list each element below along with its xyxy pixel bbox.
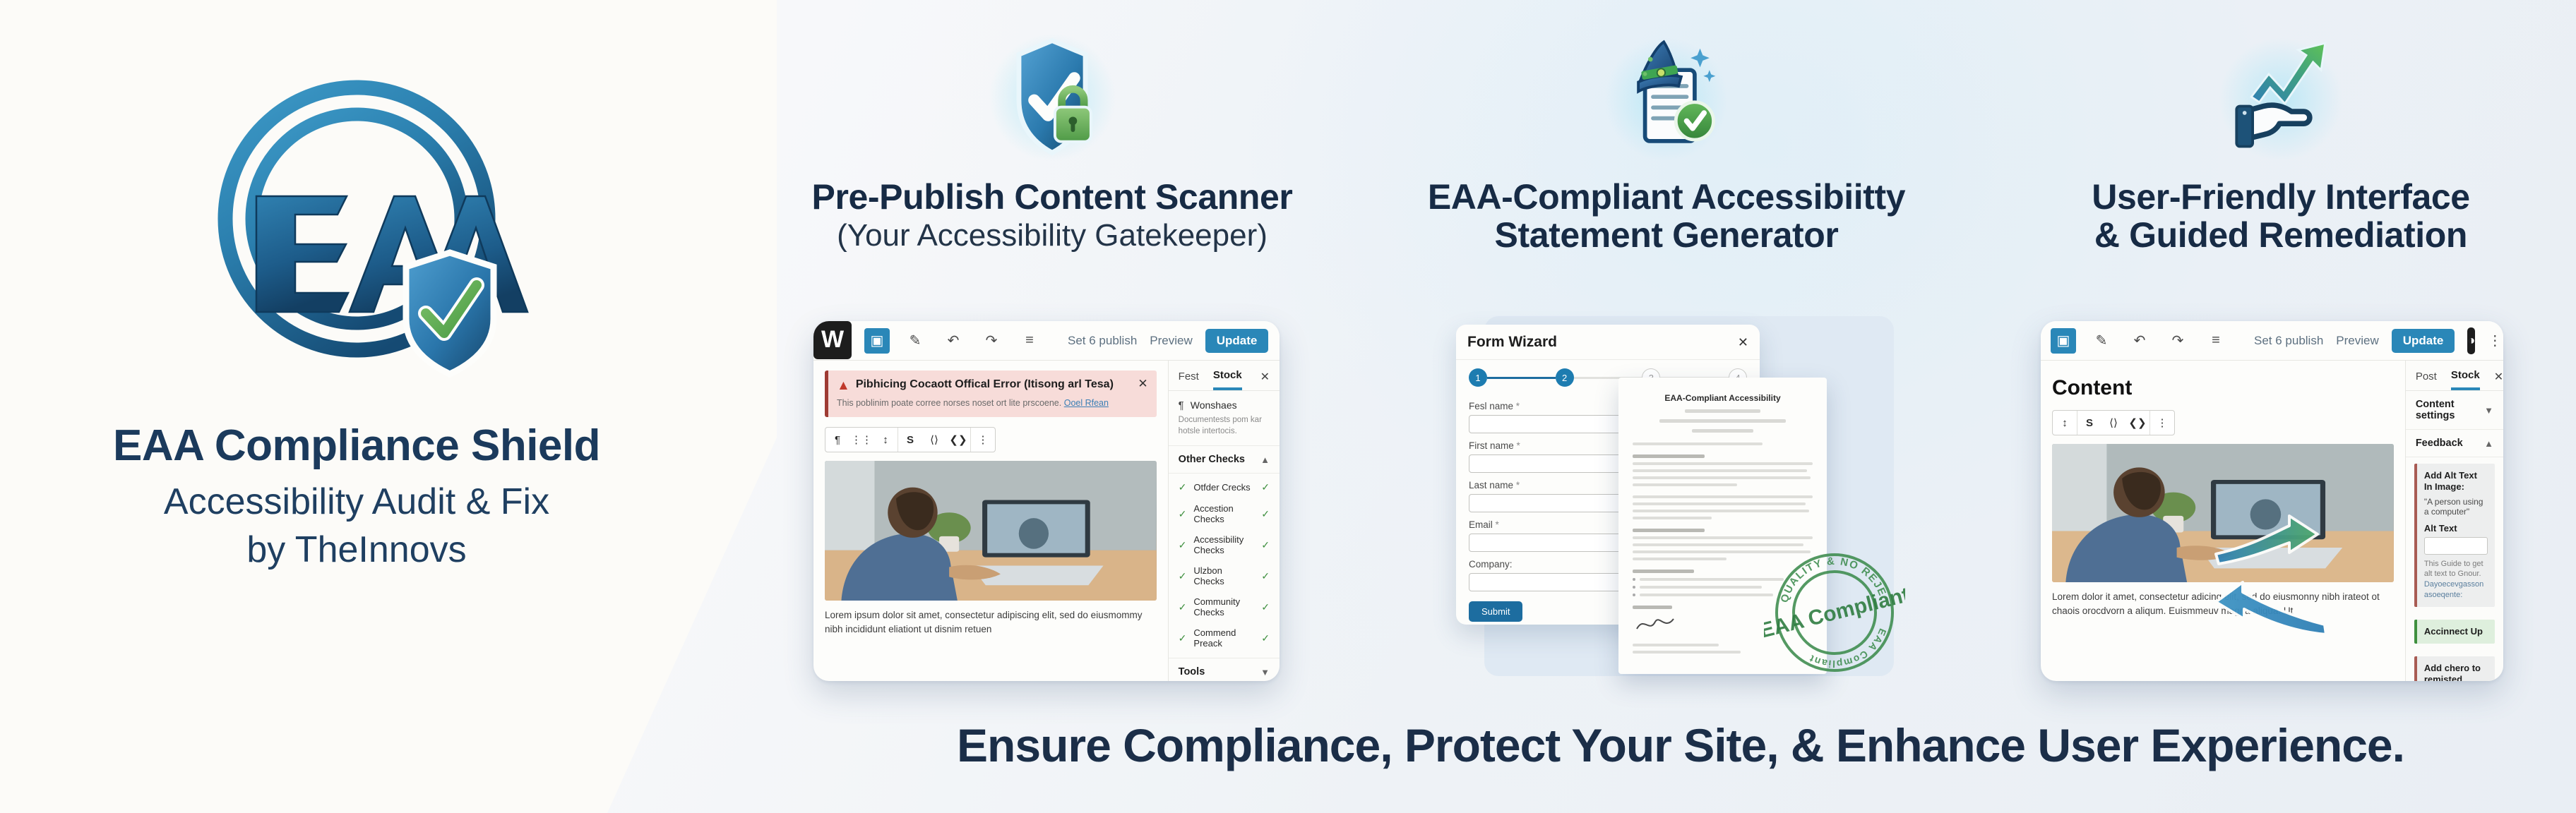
warning-triangle-icon: ▲ bbox=[837, 379, 850, 392]
paragraph-icon[interactable]: ¶ bbox=[825, 428, 849, 452]
editor-sidebar: Fest Stock ✕ ¶ Wonshaes Documentests pom… bbox=[1168, 361, 1280, 681]
check-label: Accessibility Checks bbox=[1193, 534, 1254, 555]
doc-line bbox=[1633, 442, 1763, 445]
close-icon[interactable]: ✕ bbox=[1138, 377, 1147, 391]
sidebar-tabs: Post Stock ✕ bbox=[2406, 361, 2503, 391]
sidebar-block-note: ¶ Wonshaes Documentests pom kar hotsle i… bbox=[1169, 391, 1280, 446]
notice-body: This poblinim poate corree norses noset … bbox=[837, 397, 1148, 409]
doc-subheading bbox=[1633, 454, 1705, 458]
check-status-icon: ✓ bbox=[1261, 601, 1270, 613]
feature-2-title: EAA-Compliant Accessibiitty Statement Ge… bbox=[1428, 178, 1905, 254]
feature-2-title-line1: EAA-Compliant Accessibiitty bbox=[1428, 178, 1905, 216]
list-view-icon[interactable]: ≡ bbox=[1017, 328, 1042, 354]
feature-1-title: Pre-Publish Content Scanner bbox=[812, 178, 1293, 216]
field-required-mark: * bbox=[1496, 519, 1499, 530]
sidebar-note-head: ¶ Wonshaes bbox=[1179, 399, 1270, 411]
feedback-card-title: Add Alt Text In Image: bbox=[2424, 470, 2488, 493]
bold-icon[interactable]: S bbox=[2077, 411, 2101, 435]
field-label-text: Last name bbox=[1469, 480, 1513, 490]
tab-post[interactable]: Fest bbox=[1179, 371, 1199, 389]
wordpress-logo[interactable]: W bbox=[813, 321, 852, 359]
brand-byline: by TheInnovs bbox=[246, 529, 466, 571]
chevron-up-icon: ▲ bbox=[1260, 454, 1270, 465]
block-toolbar: ¶ ⋮⋮ ↕ S ⟨⟩ ❮❯ ⋮ bbox=[825, 427, 996, 452]
doc-line bbox=[1633, 510, 1809, 512]
kebab-icon[interactable]: ⋮ bbox=[2150, 411, 2174, 435]
settings-toggle-icon[interactable]: ◑ bbox=[2467, 327, 2475, 354]
doc-line bbox=[1633, 495, 1813, 498]
editor-canvas: ▲ Pibhicing Cocaott Offical Error (Itiso… bbox=[813, 361, 1168, 681]
feature-column-statement-generator: EAA-Compliant Accessibiitty Statement Ge… bbox=[1363, 18, 1970, 254]
check-label: Community Checks bbox=[1193, 596, 1254, 618]
mockup-pre-publish-scanner: W ▣ ✎ ↶ ↷ ≡ Set 6 publish Preview Update… bbox=[813, 321, 1280, 681]
check-status-icon: ✓ bbox=[1261, 481, 1270, 493]
content-photo bbox=[2052, 444, 2394, 582]
list-item[interactable]: ✓ Ulzbon Checks ✓ bbox=[1169, 560, 1280, 591]
feature-3-title-line2: & Guided Remediation bbox=[2092, 216, 2469, 254]
sidebar-note-title: Wonshaes bbox=[1191, 399, 1237, 411]
list-item[interactable]: ✓ Commend Preack ✓ bbox=[1169, 622, 1280, 654]
doc-line bbox=[1633, 469, 1807, 472]
section-tools-label: Tools bbox=[1179, 666, 1205, 677]
doc-signature-label bbox=[1633, 606, 1672, 609]
feedback-card-title: Add chero to remisted remediation bbox=[2424, 663, 2488, 681]
doc-line bbox=[1685, 409, 1760, 413]
move-updown-icon[interactable]: ↕ bbox=[873, 428, 898, 452]
preview-link[interactable]: Preview bbox=[2336, 334, 2378, 348]
sidebar-tabs: Fest Stock ✕ bbox=[1169, 361, 1280, 391]
hand-growth-arrow-icon bbox=[2214, 18, 2348, 167]
list-view-icon[interactable]: ≡ bbox=[2203, 328, 2229, 354]
eaa-compliant-stamp: QUALITY & NO REJECT EAA Compliant EAA Co… bbox=[1764, 542, 1905, 683]
hint-text: This Guide to get alt text to Gnour. bbox=[2424, 560, 2483, 579]
drag-handle-icon[interactable]: ⋮⋮ bbox=[849, 428, 873, 452]
list-item[interactable]: ✓ Accessibility Checks ✓ bbox=[1169, 529, 1280, 560]
wp-editor-toolbar: W ▣ ✎ ↶ ↷ ≡ Set 6 publish Preview Update… bbox=[813, 321, 1280, 361]
list-item[interactable]: ✓ Otfder Crecks ✓ bbox=[1169, 476, 1280, 498]
field-label-text: Company: bbox=[1469, 559, 1513, 570]
feature-3-title-line1: User-Friendly Interface bbox=[2092, 178, 2469, 216]
notice-head: ▲ Pibhicing Cocaott Offical Error (Itiso… bbox=[837, 378, 1148, 392]
check-status-icon: ✓ bbox=[1261, 632, 1270, 644]
close-icon[interactable]: ✕ bbox=[1738, 335, 1748, 350]
check-icon: ✓ bbox=[1179, 508, 1187, 520]
hint-link[interactable]: Dayoecevgasson asoeqente: bbox=[2424, 580, 2483, 599]
feature-1-subtitle: (Your Accessibility Gatekeeper) bbox=[837, 219, 1268, 253]
link-icon[interactable]: ⟨⟩ bbox=[922, 428, 946, 452]
chevron-up-icon: ▲ bbox=[2484, 438, 2493, 449]
more-rich-text-icon[interactable]: ❮❯ bbox=[946, 428, 970, 452]
brand-block: EAA Compliance Shield Accessibility Audi… bbox=[0, 42, 713, 571]
notice-link[interactable]: Ooel Rfean bbox=[1064, 398, 1109, 408]
step-2[interactable]: 2 bbox=[1556, 368, 1574, 387]
doc-subheading bbox=[1633, 570, 1694, 573]
block-toolbar-group-2: S ⟨⟩ ❮❯ bbox=[2077, 411, 2149, 435]
preview-link[interactable]: Preview bbox=[1150, 334, 1192, 348]
check-status-icon: ✓ bbox=[1261, 508, 1270, 520]
pencil-icon[interactable]: ✎ bbox=[902, 328, 928, 354]
section-tools[interactable]: Tools ▼ bbox=[1169, 658, 1280, 681]
sidebar-note-body: Documentests pom kar hotsle intertocis. bbox=[1179, 415, 1270, 437]
signature-icon bbox=[1633, 613, 1696, 634]
field-label-text: First name bbox=[1469, 440, 1514, 451]
feedback-card-hint: This Guide to get alt text to Gnour. Day… bbox=[2424, 559, 2488, 601]
doc-line bbox=[1633, 558, 1727, 560]
lorem-text: Lorem dolor it amet, consectetur adicing… bbox=[2052, 590, 2394, 618]
doc-line bbox=[1633, 476, 1811, 479]
block-toolbar: ↕ S ⟨⟩ ❮❯ ⋮ bbox=[2052, 410, 2175, 435]
wp-editor-toolbar: ▣ ✎ ↶ ↷ ≡ Set 6 publish Preview Update ◑… bbox=[2041, 321, 2503, 361]
lorem-text: Lorem ipsum dolor sit amet, consectetur … bbox=[825, 608, 1157, 636]
step-connector-1 bbox=[1487, 377, 1556, 379]
bold-icon[interactable]: S bbox=[898, 428, 922, 452]
chevron-down-icon: ▼ bbox=[1260, 667, 1270, 677]
kebab-icon[interactable]: ⋮ bbox=[2488, 332, 2500, 349]
editor-body: Content ↕ S ⟨⟩ ❮❯ ⋮ bbox=[2041, 361, 2503, 681]
field-required-mark: * bbox=[1516, 401, 1520, 411]
check-label: Otfder Crecks bbox=[1193, 482, 1254, 493]
check-label: Ulzbon Checks bbox=[1193, 565, 1254, 586]
notice-title: Pibhicing Cocaott Offical Error (Itisong… bbox=[856, 378, 1114, 392]
chevron-down-icon: ▼ bbox=[2484, 405, 2493, 416]
undo-icon[interactable]: ↶ bbox=[2127, 328, 2152, 354]
pencil-icon[interactable]: ✎ bbox=[2089, 328, 2114, 354]
check-icon: ✓ bbox=[1179, 570, 1187, 582]
error-notice: ▲ Pibhicing Cocaott Offical Error (Itiso… bbox=[825, 371, 1157, 417]
check-icon: ✓ bbox=[1179, 632, 1187, 644]
feedback-card-title: Accinnect Up bbox=[2424, 626, 2488, 637]
doc-line bbox=[1633, 536, 1813, 539]
field-label-text: Fesl name bbox=[1469, 401, 1513, 411]
save-draft-link[interactable]: Set 6 publish bbox=[1068, 334, 1137, 348]
content-heading: Content bbox=[2052, 376, 2394, 400]
field-required-mark: * bbox=[1517, 440, 1520, 451]
doc-line bbox=[1633, 517, 1712, 519]
doc-line bbox=[1633, 462, 1813, 465]
check-label: Accestion Checks bbox=[1193, 503, 1254, 524]
save-draft-link[interactable]: Set 6 publish bbox=[2254, 334, 2323, 348]
block-inserter-icon[interactable]: ▣ bbox=[864, 328, 890, 354]
move-updown-icon[interactable]: ↕ bbox=[2053, 411, 2077, 435]
link-icon[interactable]: ⟨⟩ bbox=[2101, 411, 2125, 435]
redo-icon[interactable]: ↷ bbox=[979, 328, 1004, 354]
block-toolbar-group-2: S ⟨⟩ ❮❯ bbox=[898, 428, 970, 452]
feature-2-title-line2: Statement Generator bbox=[1428, 216, 1905, 254]
feature-column-guided-remediation: User-Friendly Interface & Guided Remedia… bbox=[1977, 18, 2576, 254]
list-item[interactable]: ✓ Accestion Checks ✓ bbox=[1169, 498, 1280, 529]
notice-body-text: This poblinim poate corree norses noset … bbox=[837, 398, 1061, 408]
update-button[interactable]: Update bbox=[2392, 329, 2455, 353]
update-button[interactable]: Update bbox=[1205, 329, 1269, 353]
block-inserter-icon[interactable]: ▣ bbox=[2051, 328, 2076, 354]
section-other-checks[interactable]: Other Checks ▲ bbox=[1169, 446, 1280, 474]
more-rich-text-icon[interactable]: ❮❯ bbox=[2125, 411, 2149, 435]
form-wizard-header: Form Wizard ✕ bbox=[1456, 325, 1760, 360]
alt-text-input[interactable] bbox=[2424, 537, 2488, 555]
field-required-mark: * bbox=[1516, 480, 1520, 490]
tagline: Ensure Compliance, Protect Your Site, & … bbox=[876, 718, 2486, 772]
feedback-card-success: Accinnect Up bbox=[2414, 620, 2495, 644]
brand-title: EAA Compliance Shield bbox=[113, 421, 600, 471]
close-icon[interactable]: ✕ bbox=[1260, 370, 1270, 390]
tab-post[interactable]: Post bbox=[2416, 371, 2437, 389]
editor-body: ▲ Pibhicing Cocaott Offical Error (Itiso… bbox=[813, 361, 1280, 681]
checks-list: ✓ Otfder Crecks ✓ ✓ Accestion Checks ✓ ✓… bbox=[1169, 474, 1280, 658]
doc-line bbox=[1633, 483, 1737, 486]
doc-line bbox=[1633, 644, 1719, 646]
kebab-icon[interactable]: ⋮ bbox=[971, 428, 995, 452]
section-content-settings[interactable]: Content settings ▼ bbox=[2406, 391, 2503, 430]
doc-line bbox=[1659, 419, 1786, 423]
block-toolbar-group-3: ⋮ bbox=[2149, 411, 2174, 435]
feature-column-scanner: Pre-Publish Content Scanner (Your Access… bbox=[720, 18, 1384, 253]
check-status-icon: ✓ bbox=[1261, 539, 1270, 551]
redo-icon[interactable]: ↷ bbox=[2165, 328, 2190, 354]
document-heading: EAA-Compliant Accessibility bbox=[1633, 393, 1813, 403]
shield-lock-check-icon bbox=[983, 18, 1121, 167]
submit-button[interactable]: Submit bbox=[1469, 601, 1522, 622]
tab-block[interactable]: Stock bbox=[2451, 369, 2480, 390]
editor-sidebar: Post Stock ✕ Content settings ▼ Feedback… bbox=[2405, 361, 2503, 681]
section-feedback-label: Feedback bbox=[2416, 438, 2463, 449]
mockup-guided-remediation: ▣ ✎ ↶ ↷ ≡ Set 6 publish Preview Update ◑… bbox=[2041, 321, 2503, 681]
block-toolbar-group-3: ⋮ bbox=[970, 428, 995, 452]
tab-block[interactable]: Stock bbox=[1213, 369, 1242, 390]
doc-line bbox=[1633, 502, 1806, 505]
paragraph-icon: ¶ bbox=[1179, 399, 1184, 411]
wizard-hat-document-check-icon bbox=[1599, 18, 1734, 167]
form-wizard-title: Form Wizard bbox=[1467, 334, 1557, 351]
feature-3-title: User-Friendly Interface & Guided Remedia… bbox=[2092, 178, 2469, 254]
section-other-checks-label: Other Checks bbox=[1179, 454, 1245, 465]
mockup-statement-generator: Form Wizard ✕ 1 2 3 4 Fesl name * First … bbox=[1449, 311, 1901, 685]
doc-line bbox=[1633, 651, 1741, 654]
alt-text-label: Alt Text bbox=[2424, 523, 2488, 534]
eaa-shield-logo-icon bbox=[173, 42, 540, 409]
content-photo bbox=[825, 461, 1157, 601]
undo-icon[interactable]: ↶ bbox=[941, 328, 966, 354]
check-label: Commend Preack bbox=[1193, 627, 1254, 649]
section-content-settings-label: Content settings bbox=[2416, 399, 2484, 421]
list-item[interactable]: ✓ Community Checks ✓ bbox=[1169, 591, 1280, 622]
feedback-card-alt-text: Add Alt Text In Image: "A person using a… bbox=[2414, 464, 2495, 607]
block-toolbar-group-1: ↕ bbox=[2053, 411, 2077, 435]
block-toolbar-group-1: ¶ ⋮⋮ ↕ bbox=[825, 428, 898, 452]
doc-line bbox=[1692, 429, 1753, 433]
check-icon: ✓ bbox=[1179, 481, 1187, 493]
section-feedback[interactable]: Feedback ▲ bbox=[2406, 430, 2503, 457]
close-icon[interactable]: ✕ bbox=[2494, 370, 2503, 390]
editor-canvas: Content ↕ S ⟨⟩ ❮❯ ⋮ bbox=[2041, 361, 2405, 681]
brand-subtitle: Accessibility Audit & Fix bbox=[164, 481, 549, 523]
check-icon: ✓ bbox=[1179, 539, 1187, 551]
field-label-text: Email bbox=[1469, 519, 1493, 530]
step-1[interactable]: 1 bbox=[1469, 368, 1487, 387]
doc-subheading bbox=[1633, 529, 1705, 532]
check-icon: ✓ bbox=[1179, 601, 1187, 613]
feedback-card-remediation: Add chero to remisted remediation Clinic… bbox=[2414, 656, 2495, 681]
feedback-card-quote: "A person using a computer" bbox=[2424, 497, 2488, 517]
check-status-icon: ✓ bbox=[1261, 570, 1270, 582]
